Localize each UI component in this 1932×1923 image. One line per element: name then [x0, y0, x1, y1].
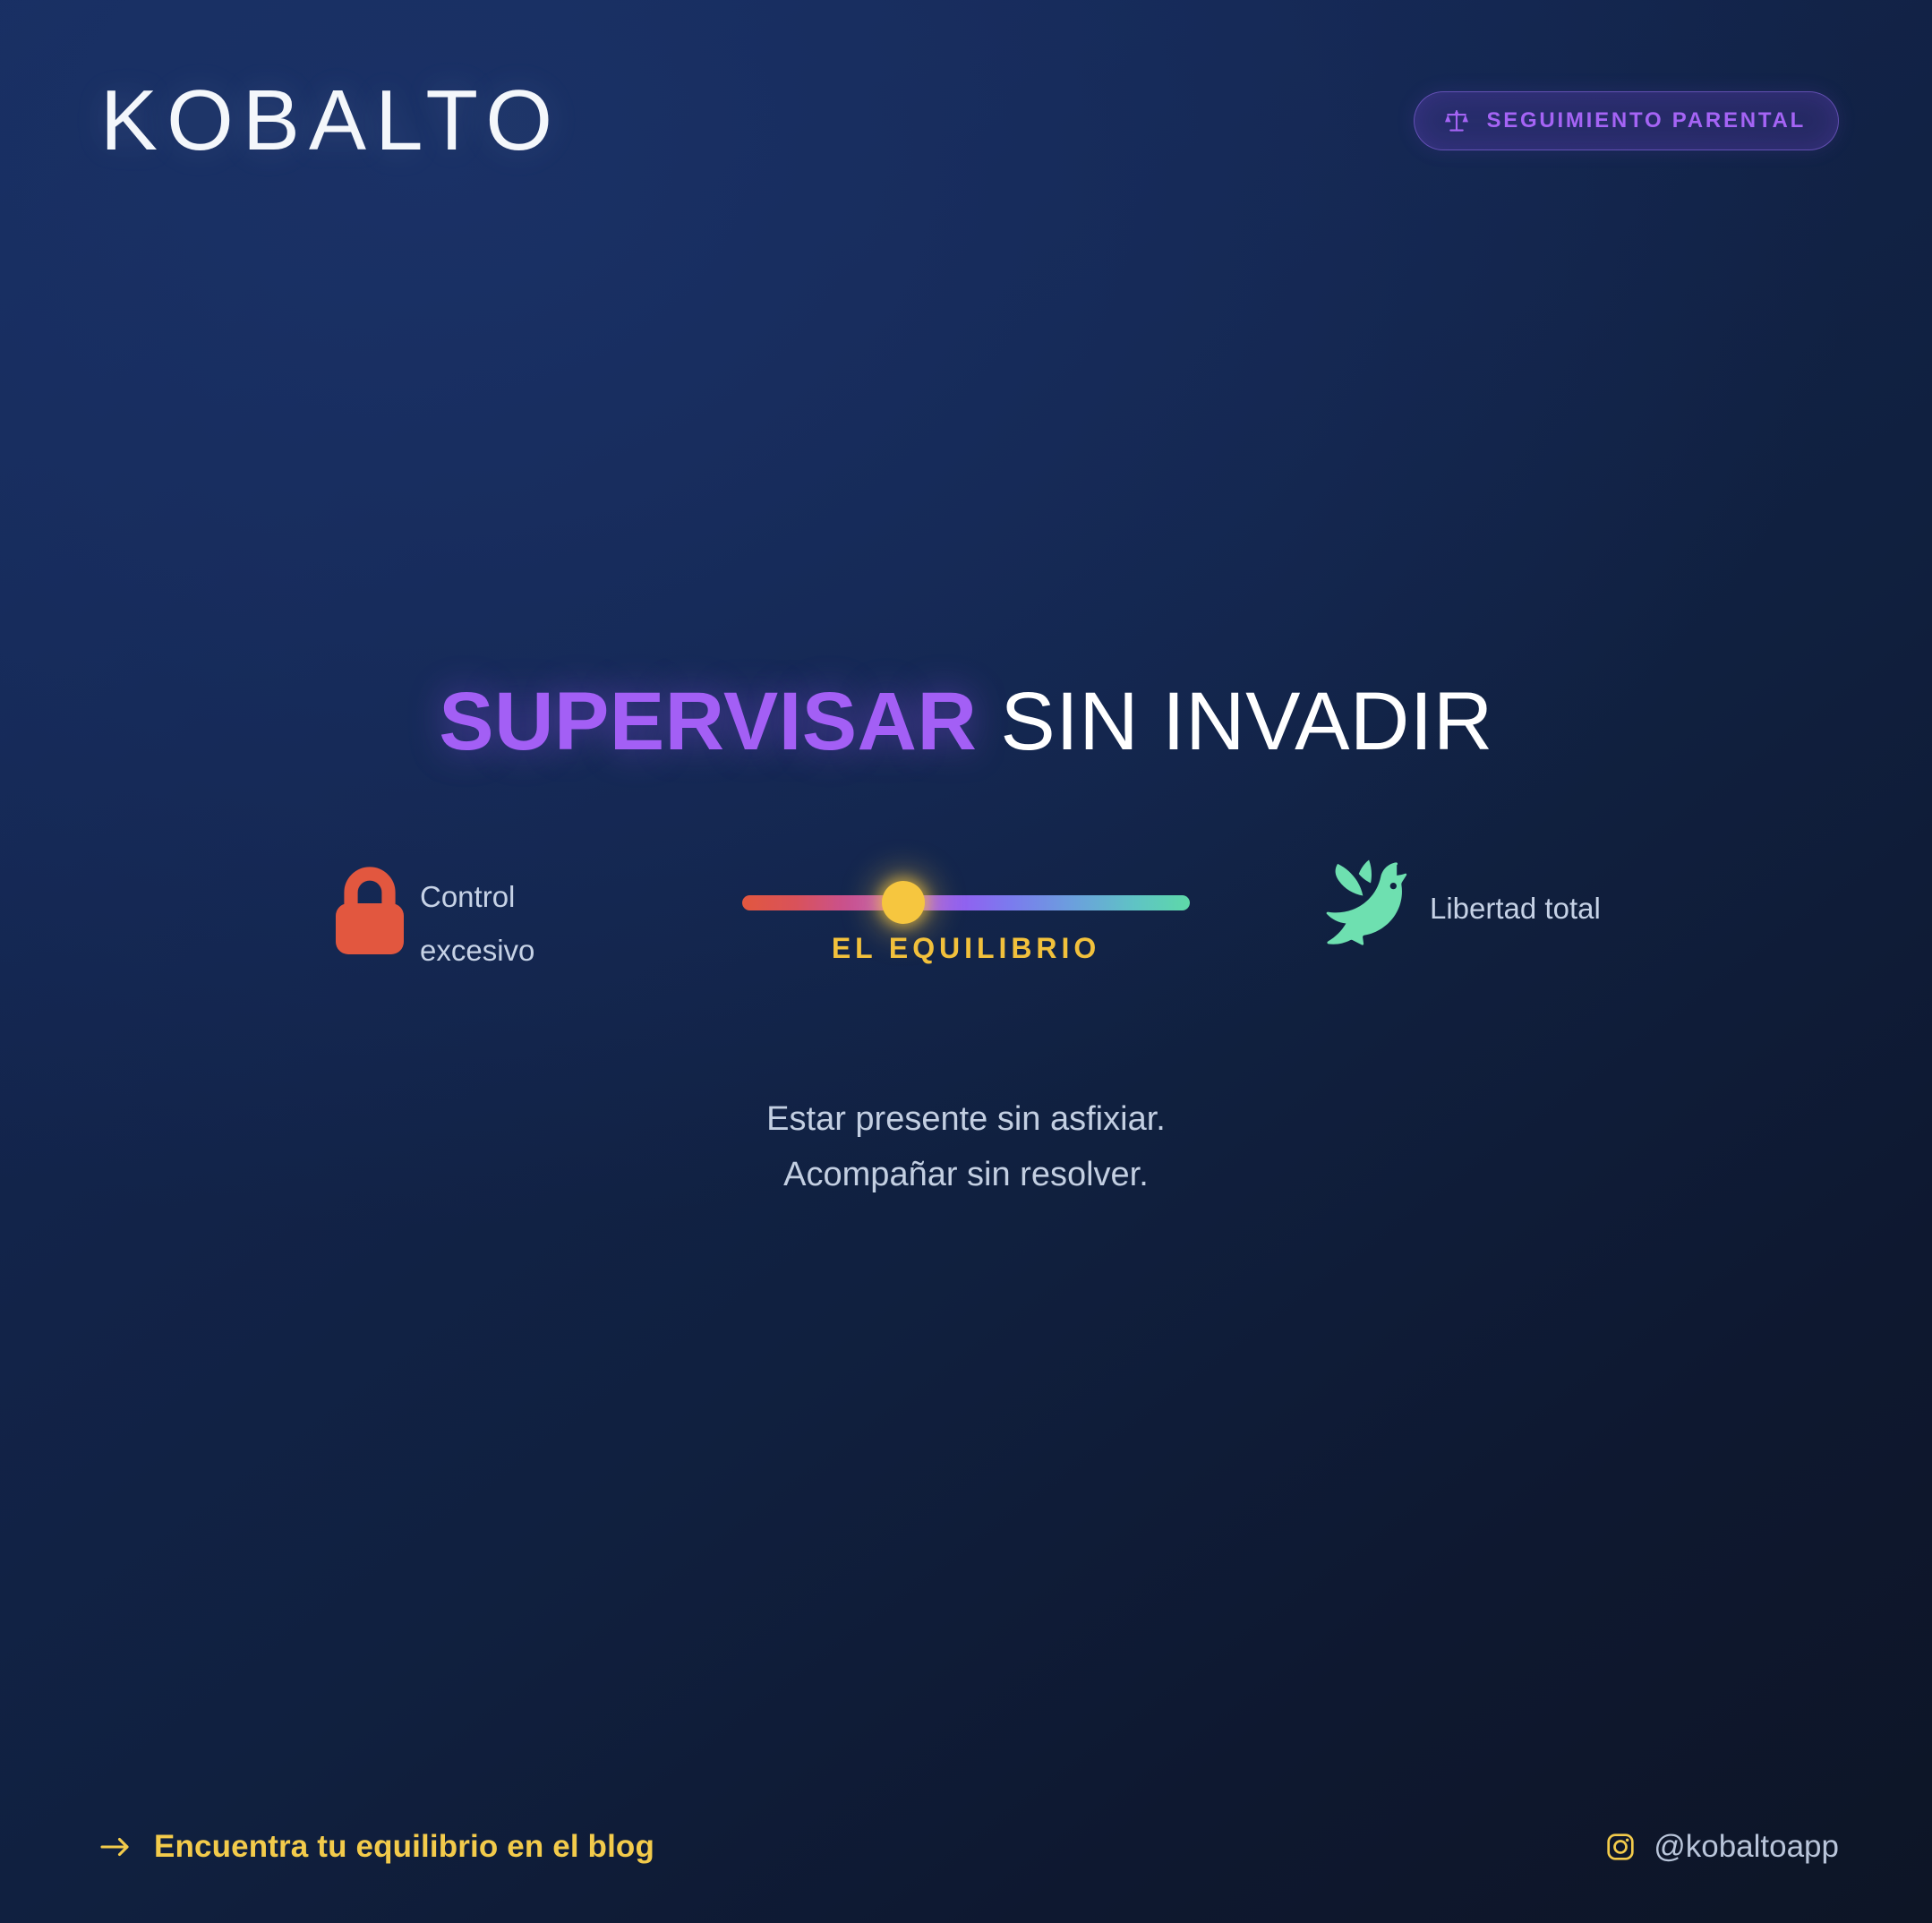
- site-header: KOBALTO SEGUIMIENTO PARENTAL: [0, 0, 1932, 242]
- blog-cta-link[interactable]: Encuentra tu equilibrio en el blog: [100, 1829, 654, 1865]
- spectrum-pole-control: Control excesivo: [321, 870, 617, 978]
- instagram-icon: [1605, 1832, 1636, 1862]
- balance-slider-group: EL EQUILIBRIO: [742, 870, 1190, 965]
- page-canvas: KOBALTO SEGUIMIENTO PARENTAL SUPERVISAR …: [0, 0, 1932, 1923]
- instagram-link[interactable]: @kobaltoapp: [1605, 1829, 1839, 1865]
- balance-spectrum: Control excesivo EL EQUILIBRIO: [321, 870, 1611, 978]
- spectrum-pole-freedom: Libertad total: [1315, 870, 1611, 947]
- balance-slider-track[interactable]: [742, 895, 1190, 910]
- site-footer: Encuentra tu equilibrio en el blog @koba…: [0, 1771, 1932, 1923]
- hero-subcopy: Estar presente sin asfixiar. Acompañar s…: [766, 1092, 1166, 1203]
- subcopy-line-2: Acompañar sin resolver.: [766, 1148, 1166, 1203]
- subcopy-line-1: Estar presente sin asfixiar.: [766, 1092, 1166, 1148]
- hero-section: SUPERVISAR SIN INVADIR Control excesivo …: [0, 680, 1932, 1203]
- headline-accent: SUPERVISAR: [439, 676, 977, 767]
- page-title: SUPERVISAR SIN INVADIR: [439, 680, 1492, 765]
- headline-plain: SIN INVADIR: [1000, 676, 1492, 767]
- balance-slider-knob[interactable]: [882, 881, 925, 924]
- arrow-right-icon: [100, 1836, 131, 1858]
- parental-badge-label: SEGUIMIENTO PARENTAL: [1486, 108, 1806, 133]
- blog-cta-label: Encuentra tu equilibrio en el blog: [154, 1829, 654, 1865]
- instagram-handle: @kobaltoapp: [1654, 1829, 1839, 1865]
- dove-icon: [1315, 847, 1428, 947]
- spectrum-label-control: Control excesivo: [420, 870, 554, 978]
- balance-scale-icon: [1443, 107, 1470, 134]
- balance-caption: EL EQUILIBRIO: [832, 932, 1100, 965]
- parental-tracking-badge[interactable]: SEGUIMIENTO PARENTAL: [1414, 91, 1839, 150]
- brand-logo[interactable]: KOBALTO: [100, 78, 561, 164]
- spectrum-label-freedom: Libertad total: [1430, 882, 1601, 936]
- padlock-icon: [321, 861, 418, 961]
